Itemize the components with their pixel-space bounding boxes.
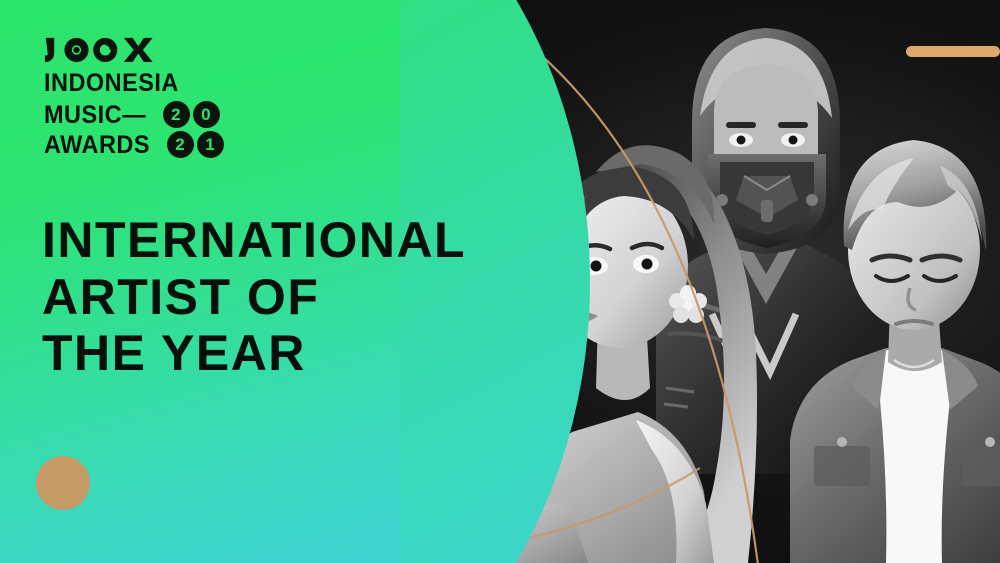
- year-top-group: 2 0: [163, 103, 220, 128]
- logo-line-awards: AWARDS 2 1: [44, 133, 224, 158]
- headline-line-1: INTERNATIONAL: [42, 212, 466, 269]
- joox-ima-logo-lockup: INDONESIA MUSIC— 2 0 AWARDS 2 1: [44, 36, 224, 165]
- logo-line-music: MUSIC— 2 0: [44, 103, 224, 128]
- logo-music-text: MUSIC—: [44, 103, 146, 128]
- year-bottom-group: 2 1: [167, 133, 224, 158]
- year-digit-2: 2: [163, 101, 190, 128]
- year-digit-1: 1: [197, 131, 224, 158]
- logo-indonesia-text: INDONESIA: [44, 71, 179, 96]
- year-digit-2b: 2: [167, 131, 194, 158]
- logo-line-indonesia: INDONESIA: [44, 71, 224, 96]
- joox-wordmark-icon: [44, 36, 154, 62]
- headline-line-3: THE YEAR: [42, 325, 466, 382]
- logo-awards-text: AWARDS: [44, 133, 150, 158]
- award-category-poster: INDONESIA MUSIC— 2 0 AWARDS 2 1 INTERNAT…: [0, 0, 1000, 563]
- headline-line-2: ARTIST OF: [42, 269, 466, 326]
- tan-circle-accent: [36, 456, 90, 510]
- category-headline: INTERNATIONAL ARTIST OF THE YEAR: [42, 212, 466, 382]
- gold-bar-accent: [906, 46, 1000, 57]
- year-digit-0: 0: [193, 101, 220, 128]
